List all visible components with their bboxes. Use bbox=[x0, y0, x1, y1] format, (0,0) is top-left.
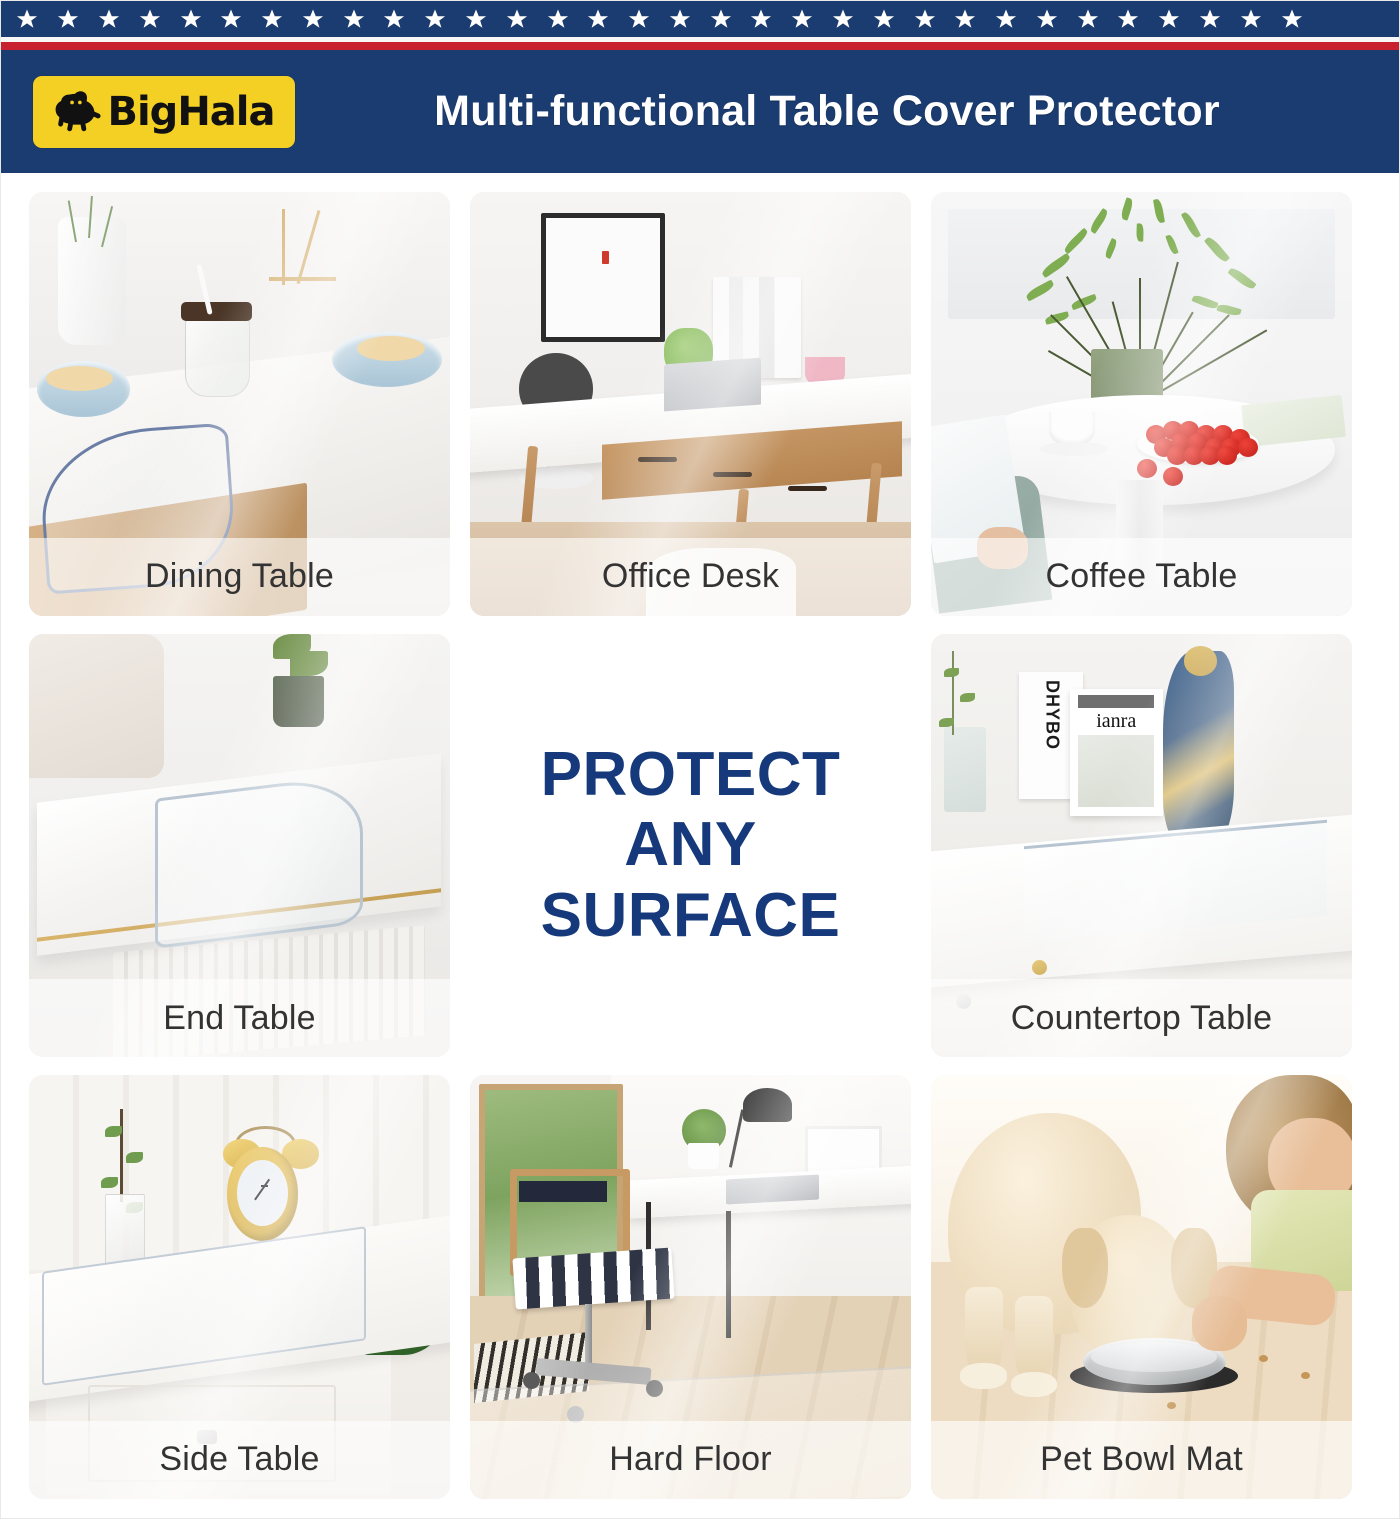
star-icon bbox=[669, 8, 691, 30]
star-icon bbox=[302, 8, 324, 30]
tile-caption: Countertop Table bbox=[931, 979, 1352, 1057]
tile-office-desk[interactable]: Office Desk bbox=[470, 192, 911, 616]
product-infographic: BigHala Multi-functional Table Cover Pro… bbox=[0, 0, 1400, 1519]
header-banner: BigHala Multi-functional Table Cover Pro… bbox=[1, 1, 1399, 173]
use-case-grid: Dining Table bbox=[1, 173, 1400, 1520]
tile-caption: Hard Floor bbox=[470, 1421, 911, 1499]
star-icon bbox=[180, 8, 202, 30]
tile-pet-bowl-mat[interactable]: Pet Bowl Mat bbox=[931, 1075, 1352, 1499]
tile-countertop-table[interactable]: DHYBO ianra Countertop Table bbox=[931, 634, 1352, 1058]
countertop-book-a-text: DHYBO bbox=[1032, 680, 1061, 790]
tile-side-table[interactable]: Side Table bbox=[29, 1075, 450, 1499]
grid-cell: DHYBO ianra Countertop Table bbox=[921, 625, 1362, 1067]
star-icon bbox=[220, 8, 242, 30]
star-icon bbox=[261, 8, 283, 30]
star-icon bbox=[1158, 8, 1180, 30]
tile-dining-table[interactable]: Dining Table bbox=[29, 192, 450, 616]
star-icon bbox=[1036, 8, 1058, 30]
header-content-row: BigHala Multi-functional Table Cover Pro… bbox=[1, 50, 1399, 173]
star-icon bbox=[506, 8, 528, 30]
tile-end-table[interactable]: End Table bbox=[29, 634, 450, 1058]
star-icon bbox=[587, 8, 609, 30]
tile-caption: Pet Bowl Mat bbox=[931, 1421, 1352, 1499]
star-icon bbox=[832, 8, 854, 30]
gorilla-icon bbox=[53, 89, 105, 135]
star-icon bbox=[465, 8, 487, 30]
tile-caption: Dining Table bbox=[29, 538, 450, 616]
grid-cell: Office Desk bbox=[460, 183, 921, 625]
star-icon bbox=[383, 8, 405, 30]
tile-caption: Coffee Table bbox=[931, 538, 1352, 616]
tile-caption: Office Desk bbox=[470, 538, 911, 616]
star-icon bbox=[1117, 8, 1139, 30]
grid-cell: Side Table bbox=[19, 1066, 460, 1508]
brand-wordmark: BigHala bbox=[107, 92, 274, 132]
star-icon bbox=[1281, 8, 1303, 30]
page-title: Multi-functional Table Cover Protector bbox=[295, 87, 1399, 136]
star-icon bbox=[791, 8, 813, 30]
star-icon bbox=[750, 8, 772, 30]
star-icon bbox=[914, 8, 936, 30]
flag-stripes-divider bbox=[1, 37, 1399, 50]
red-stripe bbox=[1, 42, 1399, 50]
star-icon bbox=[424, 8, 446, 30]
brand-logo-badge: BigHala bbox=[33, 76, 295, 148]
star-icon bbox=[343, 8, 365, 30]
countertop-book-b-text: ianra bbox=[1078, 710, 1154, 733]
tile-caption: End Table bbox=[29, 979, 450, 1057]
star-icon bbox=[1199, 8, 1221, 30]
promo-line-2: ANY bbox=[624, 810, 756, 880]
grid-cell: Hard Floor bbox=[460, 1066, 921, 1508]
star-icon bbox=[1240, 8, 1262, 30]
promo-line-3: SURFACE bbox=[541, 881, 841, 951]
star-icon bbox=[547, 8, 569, 30]
grid-cell: End Table bbox=[19, 625, 460, 1067]
star-icon bbox=[16, 8, 38, 30]
star-icon bbox=[57, 8, 79, 30]
star-icon bbox=[873, 8, 895, 30]
star-icon bbox=[1077, 8, 1099, 30]
grid-cell: Coffee Table bbox=[921, 183, 1362, 625]
promo-headline: PROTECT ANY SURFACE bbox=[470, 634, 911, 1058]
tile-hard-floor[interactable]: Hard Floor bbox=[470, 1075, 911, 1499]
tile-caption: Side Table bbox=[29, 1421, 450, 1499]
star-icon bbox=[628, 8, 650, 30]
tile-coffee-table[interactable]: Coffee Table bbox=[931, 192, 1352, 616]
grid-cell: PROTECT ANY SURFACE bbox=[460, 625, 921, 1067]
promo-line-1: PROTECT bbox=[541, 740, 841, 810]
stars-decoration-band bbox=[1, 1, 1399, 37]
grid-cell: Pet Bowl Mat bbox=[921, 1066, 1362, 1508]
grid-cell: Dining Table bbox=[19, 183, 460, 625]
star-icon bbox=[710, 8, 732, 30]
star-icon bbox=[139, 8, 161, 30]
star-icon bbox=[98, 8, 120, 30]
star-icon bbox=[954, 8, 976, 30]
star-icon bbox=[995, 8, 1017, 30]
